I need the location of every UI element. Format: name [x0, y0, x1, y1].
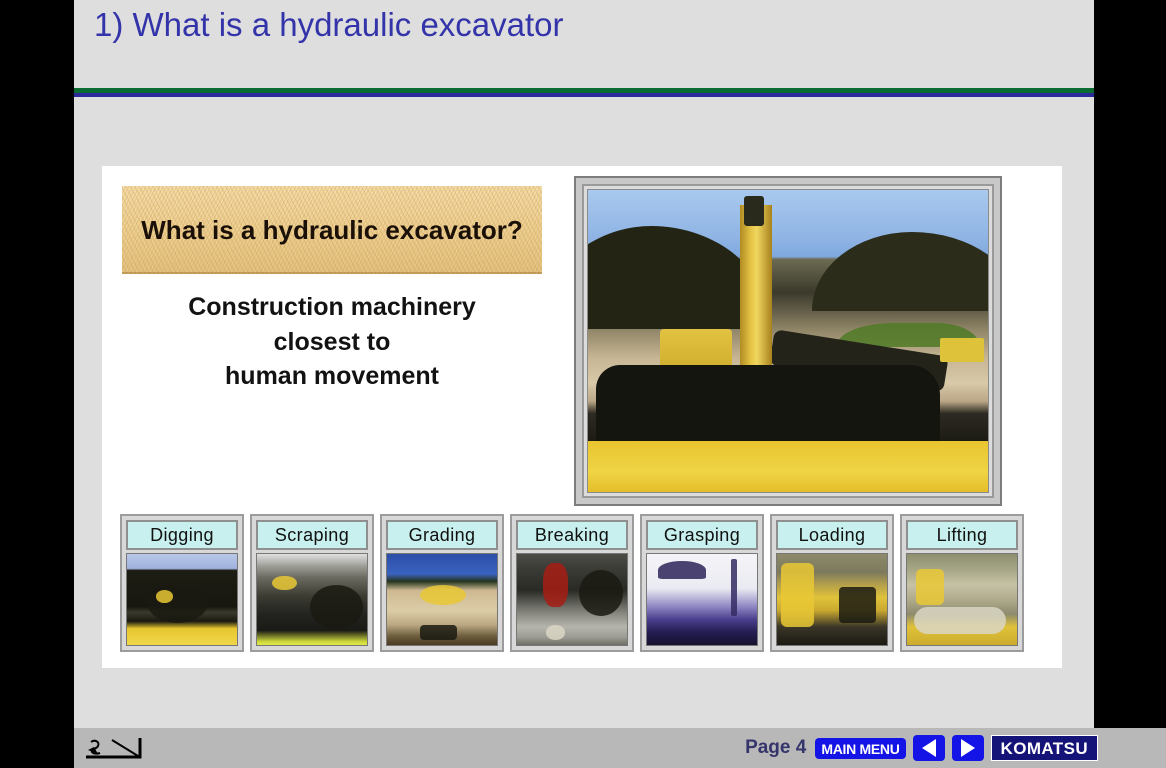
photo-hill-right: [812, 232, 989, 311]
photo-distant-machine: [940, 338, 984, 362]
main-photo-frame: [574, 176, 1002, 506]
main-photo-frame-inner: [582, 184, 994, 498]
thumbnail-tile-loading[interactable]: Loading: [770, 514, 894, 652]
thumbnail-caption: Scraping: [256, 520, 368, 550]
thumbnail-caption: Loading: [776, 520, 888, 550]
subheadline-line-1: Construction machinery: [122, 290, 542, 325]
thumbnail-caption: Digging: [126, 520, 238, 550]
next-slide-button[interactable]: [952, 735, 984, 761]
work-mode-thumbnail-strip: Digging Scraping Grading: [120, 514, 1050, 654]
triangle-right-icon: [961, 739, 975, 757]
slide-content-card: What is a hydraulic excavator? Construct…: [102, 166, 1062, 668]
pen-and-rule-icon[interactable]: [82, 734, 150, 762]
thumbnail-tile-grading[interactable]: Grading: [380, 514, 504, 652]
photo-counterweight-deck: [588, 441, 988, 492]
slide-title-bar: 1) What is a hydraulic excavator: [74, 0, 1094, 88]
subheadline-line-3: human movement: [122, 359, 542, 394]
thumbnail-photo-scraping: [256, 553, 368, 646]
excavator-worksite-photo: [587, 189, 989, 493]
thumbnail-caption: Grasping: [646, 520, 758, 550]
footer-navigation-group: Page 4 MAIN MENU KOMATSU: [745, 732, 1098, 764]
page-title: 1) What is a hydraulic excavator: [94, 6, 564, 44]
slide-page: 1) What is a hydraulic excavator What is…: [74, 0, 1094, 768]
divider-blue-rule: [74, 93, 1094, 97]
page-number-label: Page 4: [745, 737, 806, 759]
photo-boom-top-fitting: [744, 196, 764, 226]
previous-slide-button[interactable]: [913, 735, 945, 761]
triangle-left-icon: [922, 739, 936, 757]
slide-status-bar: Page 4 MAIN MENU KOMATSU: [74, 728, 1166, 768]
thumbnail-tile-lifting[interactable]: Lifting: [900, 514, 1024, 652]
left-text-column: What is a hydraulic excavator? Construct…: [122, 186, 562, 416]
photo-machine-house: [596, 365, 940, 450]
thumbnail-tile-digging[interactable]: Digging: [120, 514, 244, 652]
subheadline-line-2: closest to: [122, 325, 542, 360]
thumbnail-photo-grading: [386, 553, 498, 646]
thumbnail-tile-breaking[interactable]: Breaking: [510, 514, 634, 652]
headline-banner: What is a hydraulic excavator?: [122, 186, 542, 274]
subheadline-block: Construction machinery closest to human …: [122, 290, 542, 394]
thumbnail-photo-loading: [776, 553, 888, 646]
main-menu-button[interactable]: MAIN MENU: [815, 738, 905, 759]
thumbnail-photo-breaking: [516, 553, 628, 646]
thumbnail-caption: Lifting: [906, 520, 1018, 550]
thumbnail-tile-scraping[interactable]: Scraping: [250, 514, 374, 652]
headline-banner-text: What is a hydraulic excavator?: [141, 215, 522, 246]
thumbnail-caption: Breaking: [516, 520, 628, 550]
thumbnail-tile-grasping[interactable]: Grasping: [640, 514, 764, 652]
komatsu-brand-logo: KOMATSU: [991, 735, 1098, 761]
thumbnail-caption: Grading: [386, 520, 498, 550]
thumbnail-photo-digging: [126, 553, 238, 646]
thumbnail-photo-grasping: [646, 553, 758, 646]
screenshot-root: 1) What is a hydraulic excavator What is…: [0, 0, 1166, 768]
thumbnail-photo-lifting: [906, 553, 1018, 646]
